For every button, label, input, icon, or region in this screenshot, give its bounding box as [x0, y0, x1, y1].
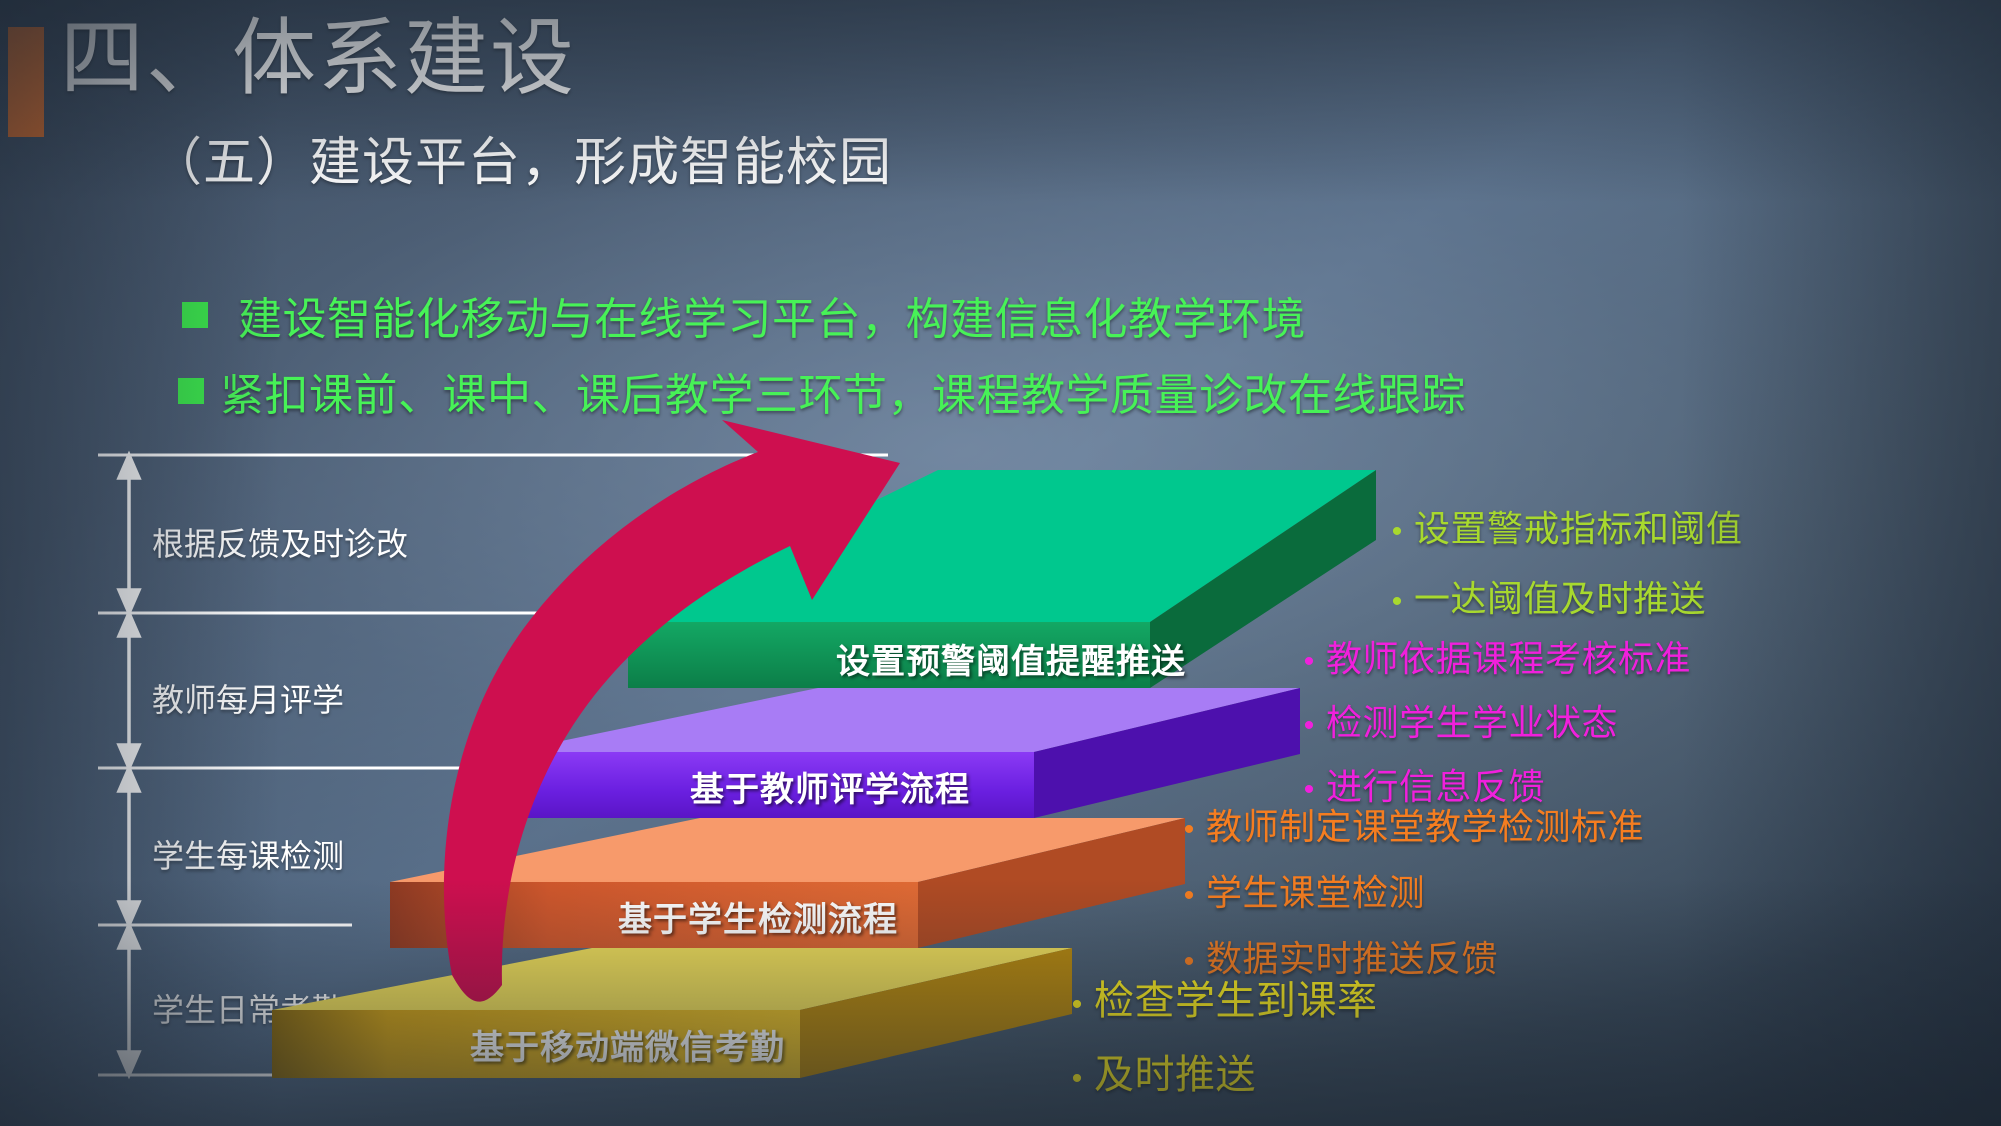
annotation-text: 学生课堂检测: [1206, 864, 1425, 916]
annotation-group-attendance: • 检查学生到课率 • 及时推送: [1060, 968, 1378, 1116]
dot-bullet-icon: •: [1292, 647, 1326, 677]
annotation-text: 检查学生到课率: [1094, 968, 1378, 1026]
stack-label-detection: 基于学生检测流程: [618, 892, 898, 941]
annotation-group-alert: • 设置警戒指标和阈值 • 一达阈值及时推送: [1380, 500, 1743, 640]
list-item: • 教师依据课程考核标准: [1292, 630, 1691, 682]
list-item: • 教师制定课堂教学检测标准: [1172, 798, 1644, 850]
dot-bullet-icon: •: [1292, 711, 1326, 741]
stack-label-attendance: 基于移动端微信考勤: [470, 1020, 785, 1069]
annotation-text: 设置警戒指标和阈值: [1414, 500, 1743, 552]
list-item: • 检查学生到课率: [1060, 968, 1378, 1026]
annotation-text: 一达阈值及时推送: [1414, 570, 1706, 622]
annotation-group-detection: • 教师制定课堂教学检测标准 • 学生课堂检测 • 数据实时推送反馈: [1172, 798, 1644, 996]
slide-canvas: 四、体系建设 （五）建设平台，形成智能校园 建设智能化移动与在线学习平台，构建信…: [0, 0, 2001, 1126]
list-item: • 一达阈值及时推送: [1380, 570, 1743, 622]
list-item: • 设置警戒指标和阈值: [1380, 500, 1743, 552]
dot-bullet-icon: •: [1060, 1064, 1094, 1094]
list-item: • 检测学生学业状态: [1292, 694, 1691, 746]
list-item: • 及时推送: [1060, 1042, 1378, 1100]
dot-bullet-icon: •: [1060, 990, 1094, 1020]
stack-label-alert: 设置预警阈值提醒推送: [836, 634, 1186, 683]
list-item: • 学生课堂检测: [1172, 864, 1644, 916]
annotation-text: 检测学生学业状态: [1326, 694, 1618, 746]
dot-bullet-icon: •: [1172, 815, 1206, 845]
dot-bullet-icon: •: [1172, 881, 1206, 911]
annotation-text: 教师制定课堂教学检测标准: [1206, 798, 1644, 850]
annotation-text: 教师依据课程考核标准: [1326, 630, 1691, 682]
dot-bullet-icon: •: [1380, 517, 1414, 547]
stack-label-teacher-review: 基于教师评学流程: [690, 762, 970, 811]
dot-bullet-icon: •: [1380, 587, 1414, 617]
annotation-group-teacher-review: • 教师依据课程考核标准 • 检测学生学业状态 • 进行信息反馈: [1292, 630, 1691, 822]
annotation-text: 及时推送: [1094, 1042, 1256, 1100]
